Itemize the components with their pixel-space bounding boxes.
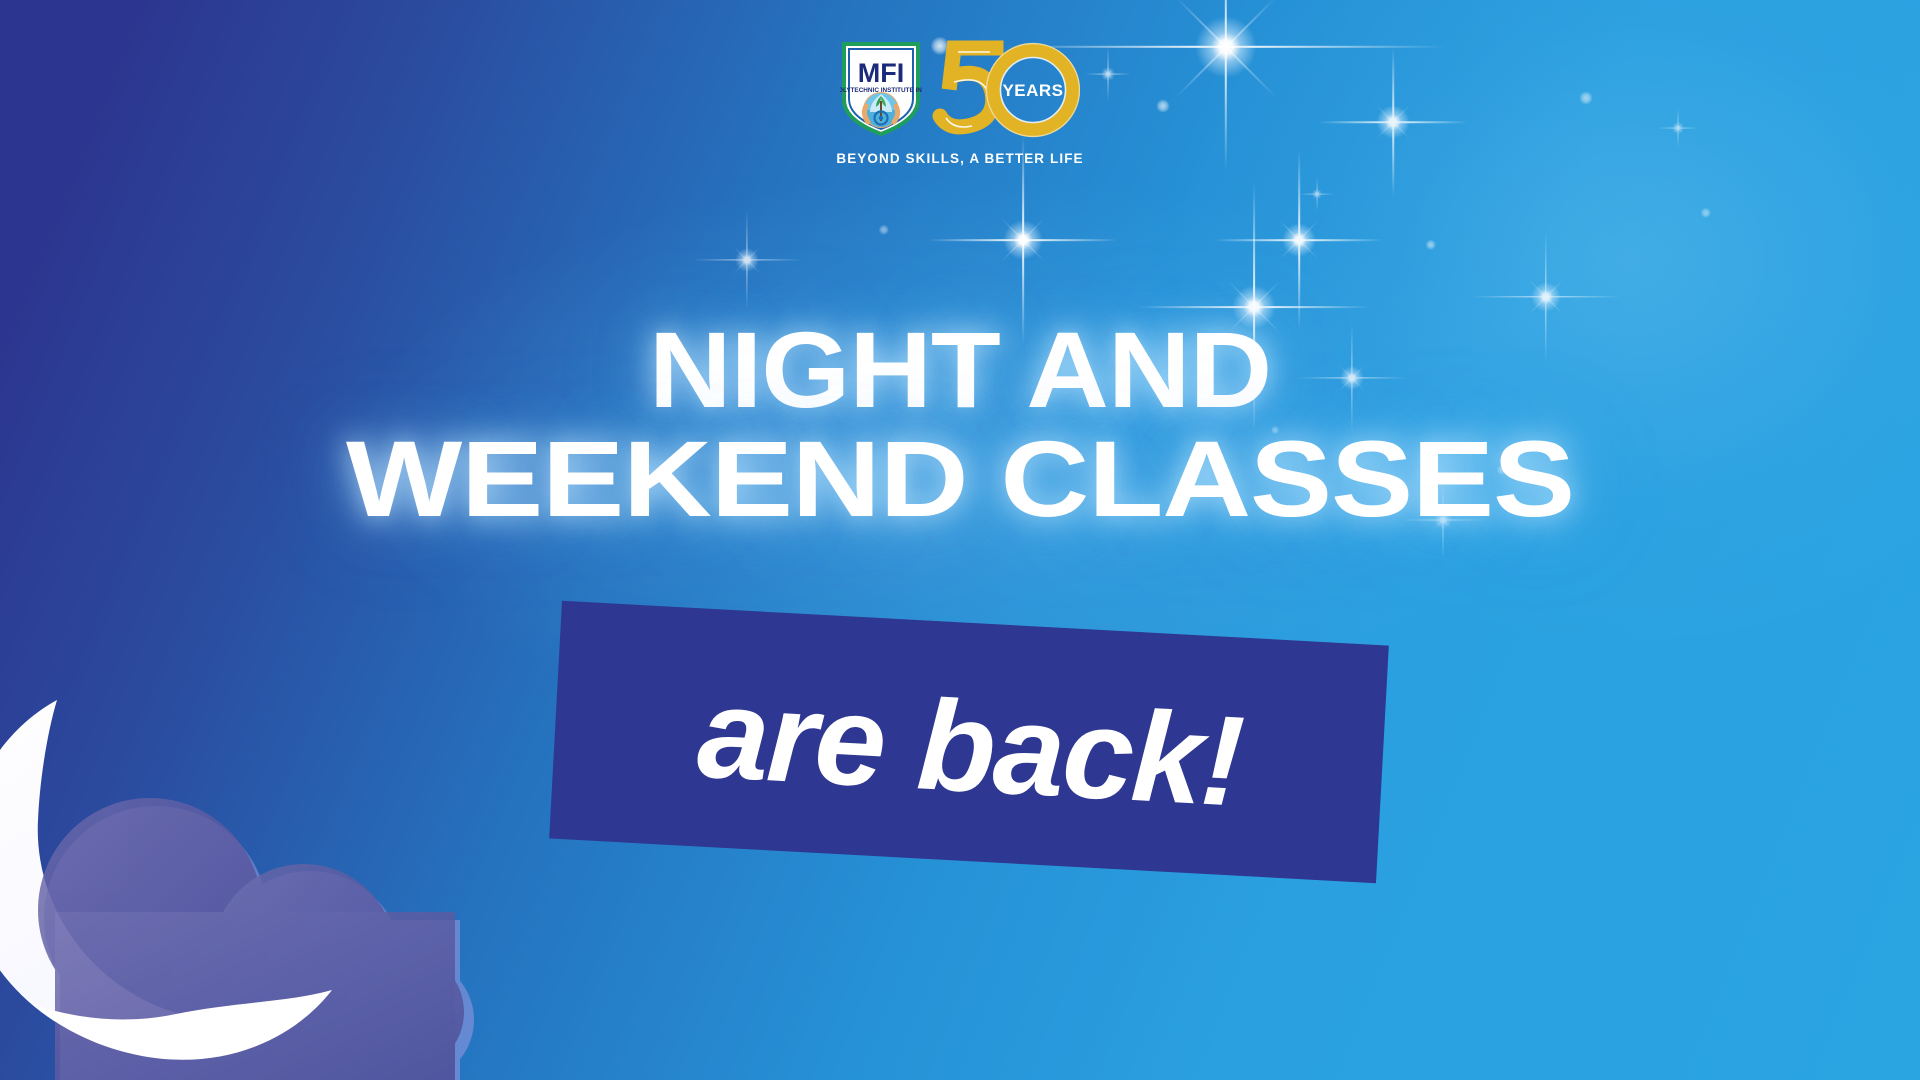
logo-row: MFI POLYTECHNIC INSTITUTE INC.	[840, 36, 1080, 144]
sparkle-dot-icon	[1580, 92, 1593, 105]
cloud-highlight	[44, 806, 474, 1080]
headline-line-1: NIGHT AND	[0, 318, 1920, 423]
mfi-logo-lockup: MFI POLYTECHNIC INSTITUTE INC.	[810, 36, 1110, 166]
promotional-poster: MFI POLYTECHNIC INSTITUTE INC.	[0, 0, 1920, 1080]
moon-and-cloud-art	[0, 668, 520, 1080]
mfi-shield-icon: MFI POLYTECHNIC INSTITUTE INC.	[840, 38, 922, 143]
fifty-years-icon: YEARS	[932, 36, 1080, 145]
sparkle-dot-icon	[1426, 240, 1436, 250]
mfi-emblem-icon	[863, 92, 899, 128]
page-title: NIGHT AND WEEKEND CLASSES	[0, 318, 1920, 532]
crescent-moon-lower-horn	[32, 990, 332, 1060]
sparkle-dot-icon	[1157, 100, 1170, 113]
cloud-icon	[38, 798, 464, 1080]
mfi-shield-wordmark: MFI	[858, 58, 905, 88]
fifty-years-label: YEARS	[1002, 81, 1063, 100]
sparkle-dot-icon	[879, 225, 889, 235]
sparkle-dot-icon	[1701, 208, 1711, 218]
logo-tagline: BEYOND SKILLS, A BETTER LIFE	[836, 151, 1083, 166]
headline-line-2: WEEKEND CLASSES	[0, 427, 1920, 532]
are-back-banner-box	[549, 601, 1389, 883]
crescent-moon-icon	[0, 700, 332, 1060]
